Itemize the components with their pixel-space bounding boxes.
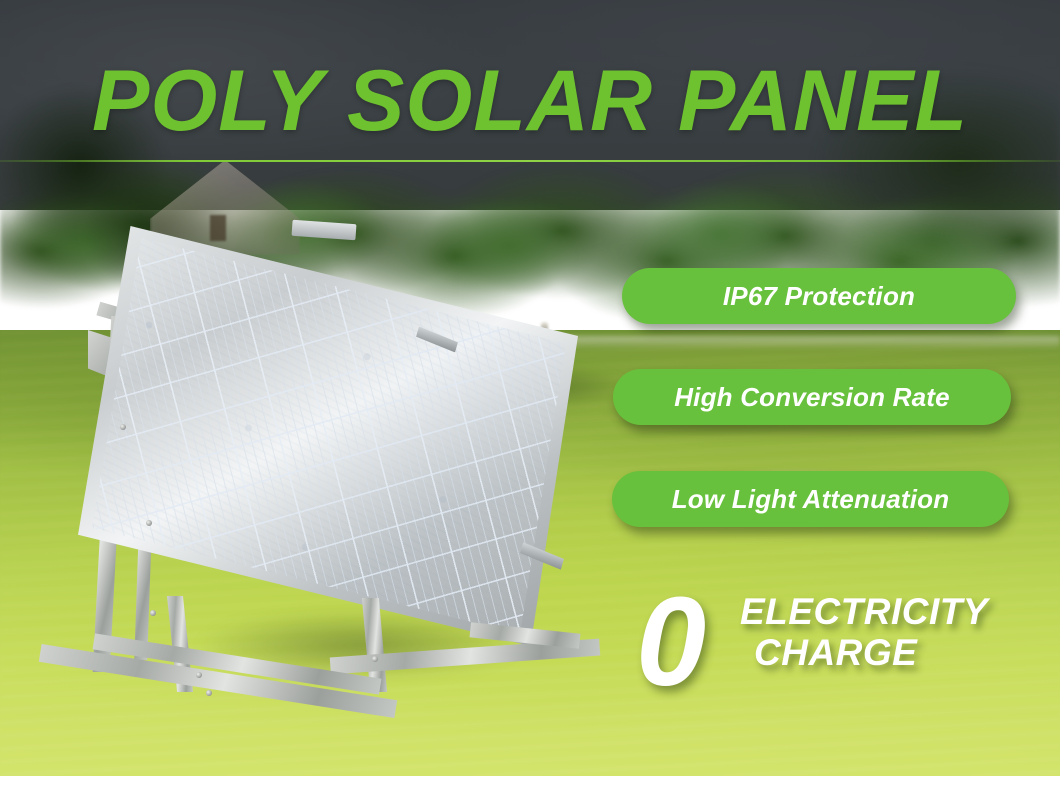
mount-bolt <box>120 424 126 430</box>
mount-bolt <box>150 610 156 616</box>
feature-pill-label: IP67 Protection <box>723 281 915 312</box>
mount-bolt <box>196 672 202 678</box>
mount-bolt <box>206 690 212 696</box>
module-top-clamp <box>292 220 357 240</box>
feature-pill-label: Low Light Attenuation <box>672 484 950 515</box>
electricity-charge-line-2: CHARGE <box>740 632 988 673</box>
feature-pill-high-conversion-rate[interactable]: High Conversion Rate <box>613 369 1011 425</box>
page-title: POLY SOLAR PANEL <box>0 58 1060 144</box>
mount-bolt <box>372 656 378 662</box>
feature-pill-label: High Conversion Rate <box>674 382 950 413</box>
feature-pill-low-light-attenuation[interactable]: Low Light Attenuation <box>612 471 1009 527</box>
zero-electricity-charge-callout: 0 ELECTRICITY CHARGE <box>636 585 1036 695</box>
poly-solar-panel-banner: POLY SOLAR PANEL IP67 Protection High Co… <box>0 0 1060 790</box>
bottom-white-strip <box>0 776 1060 790</box>
feature-pill-ip67-protection[interactable]: IP67 Protection <box>622 268 1016 324</box>
mount-bolt <box>146 520 152 526</box>
electricity-charge-line-1: ELECTRICITY <box>740 591 988 632</box>
electricity-charge-text: ELECTRICITY CHARGE <box>740 591 988 674</box>
zero-number: 0 <box>636 579 706 705</box>
glass-reflection <box>92 238 566 634</box>
